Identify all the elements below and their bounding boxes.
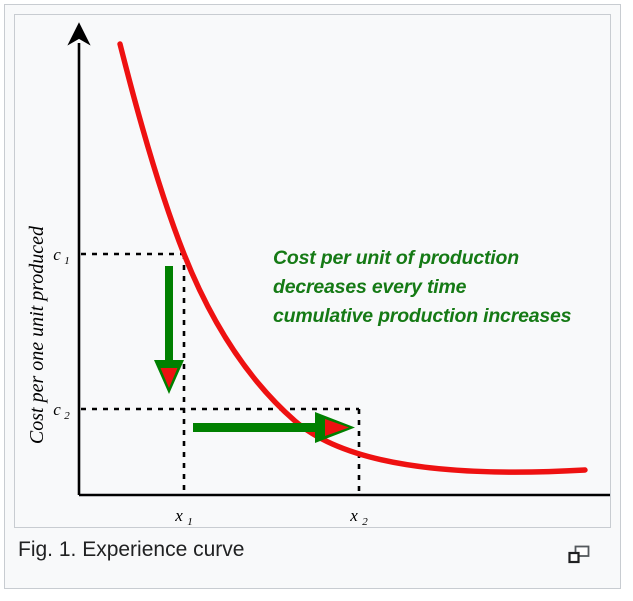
figure-image-container[interactable]: c 1 c 2 x 1 x 2 Cumulative quantity of u… <box>14 14 611 528</box>
x-tick-x1-letter: x <box>174 506 183 525</box>
x-tick-x2-subscript: 2 <box>362 516 368 527</box>
annotation-line-2: decreases every time <box>273 276 467 298</box>
y-tick-c2-letter: c <box>53 400 61 419</box>
y-tick-c1-letter: c <box>53 245 61 264</box>
figure-caption-text: Fig. 1. Experience curve <box>18 537 244 563</box>
enlarge-icon[interactable] <box>568 545 590 565</box>
experience-curve-chart: c 1 c 2 x 1 x 2 Cumulative quantity of u… <box>15 15 610 527</box>
annotation-line-3: cumulative production increases <box>273 305 572 327</box>
annotation-line-1: Cost per unit of production <box>273 247 519 269</box>
y-axis-title: Cost per one unit produced <box>26 225 48 444</box>
figure-thumbnail-frame: c 1 c 2 x 1 x 2 Cumulative quantity of u… <box>4 4 621 589</box>
y-tick-c2-subscript: 2 <box>64 410 70 422</box>
chart-background <box>15 15 610 527</box>
enlarge-icon-glyph <box>568 545 590 565</box>
x-tick-x1-subscript: 1 <box>187 516 193 527</box>
figure-caption-bar: Fig. 1. Experience curve <box>14 533 611 581</box>
x-tick-x2-letter: x <box>349 506 358 525</box>
y-tick-c1-subscript: 1 <box>64 255 70 267</box>
